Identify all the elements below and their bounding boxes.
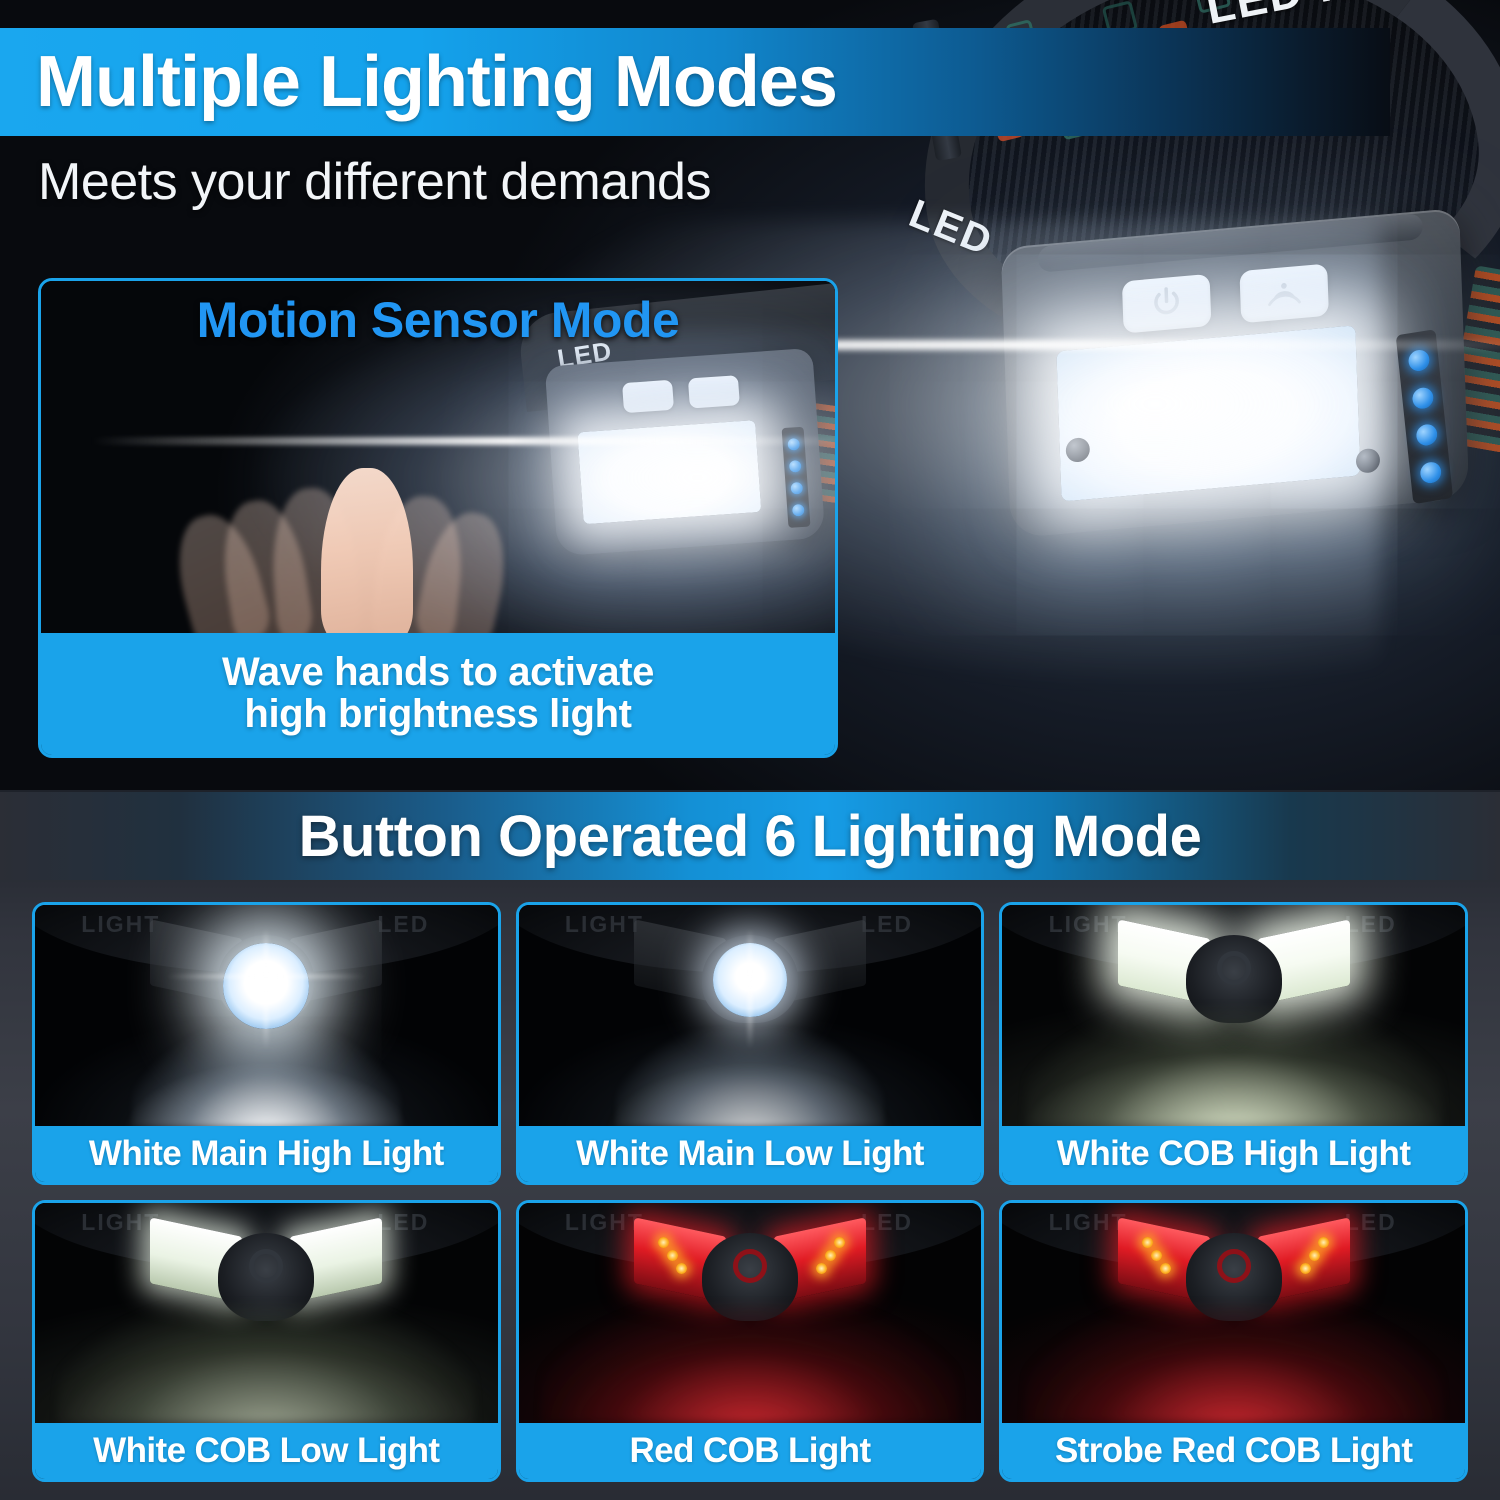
battery-indicator <box>1396 329 1453 504</box>
strap-ghost-text: LIGHT <box>565 911 644 938</box>
motion-product-photo: LED <box>511 309 835 589</box>
amber-led-dot <box>834 1237 845 1248</box>
mode-photo: LIGHTLED <box>35 905 498 1126</box>
strap-ghost-text: LIGHT <box>81 1209 160 1236</box>
lens-ring <box>733 1249 767 1283</box>
mode-label: White COB High Light <box>1057 1134 1410 1174</box>
strap-ghost-text: LED <box>861 1209 913 1236</box>
motion-caption-line2: high brightness light <box>244 694 631 736</box>
strap-ghost-text: LIGHT <box>1049 911 1128 938</box>
mode-photo: LIGHTLED <box>519 905 982 1126</box>
mode-caption: White COB Low Light <box>35 1423 498 1479</box>
header-banner: Multiple Lighting Modes <box>0 28 1390 136</box>
strap-ghost-text: LED <box>1345 911 1397 938</box>
mode-tile[interactable]: LIGHTLEDWhite Main High Light <box>32 902 501 1185</box>
amber-led-dot <box>676 1263 687 1274</box>
amber-led-dot <box>667 1250 678 1261</box>
mode-caption: White Main Low Light <box>519 1126 982 1182</box>
mode-label: Strobe Red COB Light <box>1055 1431 1412 1471</box>
beam-floor-pool <box>1025 1305 1441 1423</box>
battery-led <box>1407 349 1430 373</box>
page-subtitle: Meets your different demands <box>38 152 711 212</box>
strap-ghost-text: LED <box>1345 1209 1397 1236</box>
motion-sensor-caption: Wave hands to activate high brightness l… <box>41 633 835 755</box>
amber-led-dot <box>816 1263 827 1274</box>
mode-tile[interactable]: LIGHTLEDWhite Main Low Light <box>516 902 985 1185</box>
waving-hands <box>181 456 511 639</box>
motion-sensor-photo: LED Motion Sensor Mode <box>41 281 835 639</box>
motion-sensor-title: Motion Sensor Mode <box>41 291 835 349</box>
beam-floor-pool <box>1025 1008 1441 1126</box>
mode-photo: LIGHTLED <box>1002 905 1465 1126</box>
mode-tile[interactable]: LIGHTLEDWhite COB Low Light <box>32 1200 501 1483</box>
mode-caption: Red COB Light <box>519 1423 982 1479</box>
strap-ghost-text: LIGHT <box>81 911 160 938</box>
strap-ghost-text: LED <box>377 1209 429 1236</box>
strap-ghost-text: LED <box>861 911 913 938</box>
mode-label: White Main High Light <box>89 1134 444 1174</box>
page-title: Multiple Lighting Modes <box>0 41 837 123</box>
battery-led <box>1415 423 1438 447</box>
mode-label: White Main Low Light <box>576 1134 924 1174</box>
amber-led-dot <box>1160 1263 1171 1274</box>
amber-led-dot <box>1142 1237 1153 1248</box>
mode-tile[interactable]: LIGHTLEDRed COB Light <box>516 1200 985 1483</box>
amber-led-dot <box>1151 1250 1162 1261</box>
lens-ring <box>1217 951 1251 985</box>
mode-caption: Strobe Red COB Light <box>1002 1423 1465 1479</box>
motion-sensor-card: LED Motion Sensor Mode <box>38 278 838 758</box>
mode-label: White COB Low Light <box>93 1431 439 1471</box>
amber-led-dot <box>1309 1250 1320 1261</box>
mode-photo: LIGHTLED <box>1002 1203 1465 1424</box>
amber-led-dot <box>658 1237 669 1248</box>
mode-caption: White COB High Light <box>1002 1126 1465 1182</box>
lens-ring <box>249 1249 283 1283</box>
beam-floor-pool <box>542 1305 958 1423</box>
mode-photo: LIGHTLED <box>35 1203 498 1424</box>
battery-led <box>1411 386 1434 410</box>
beam-floor-pool <box>616 1030 884 1126</box>
mode-tile[interactable]: LIGHTLEDStrobe Red COB Light <box>999 1200 1468 1483</box>
mode-caption: White Main High Light <box>35 1126 498 1182</box>
beam-floor-pool <box>58 1305 474 1423</box>
mode-label: Red COB Light <box>629 1431 870 1471</box>
section-band: Button Operated 6 Lighting Mode <box>0 792 1500 880</box>
battery-led <box>1419 460 1442 484</box>
mode-tile[interactable]: LIGHTLEDWhite COB High Light <box>999 902 1468 1185</box>
page-root: LED HE LED <box>0 0 1500 1500</box>
strap-ghost-text: LED <box>377 911 429 938</box>
mini-beam-flare <box>91 437 835 445</box>
hero-section: LED HE LED <box>0 0 1500 790</box>
mode-photo: LIGHTLED <box>519 1203 982 1424</box>
beam-floor-pool <box>132 1030 400 1126</box>
section-title: Button Operated 6 Lighting Mode <box>299 803 1202 870</box>
lamp-face <box>150 929 382 1025</box>
lens-flare-horizontal <box>166 975 366 978</box>
strap-ghost-text: LIGHT <box>1049 1209 1128 1236</box>
lighting-mode-grid: LIGHTLEDWhite Main High LightLIGHTLEDWhi… <box>32 902 1468 1482</box>
lens-ring <box>1217 1249 1251 1283</box>
motion-caption-line1: Wave hands to activate <box>222 652 654 694</box>
strap-ghost-text: LIGHT <box>565 1209 644 1236</box>
amber-led-dot <box>1300 1263 1311 1274</box>
lamp-face <box>634 929 866 1025</box>
amber-led-dot <box>825 1250 836 1261</box>
amber-led-dot <box>1318 1237 1329 1248</box>
